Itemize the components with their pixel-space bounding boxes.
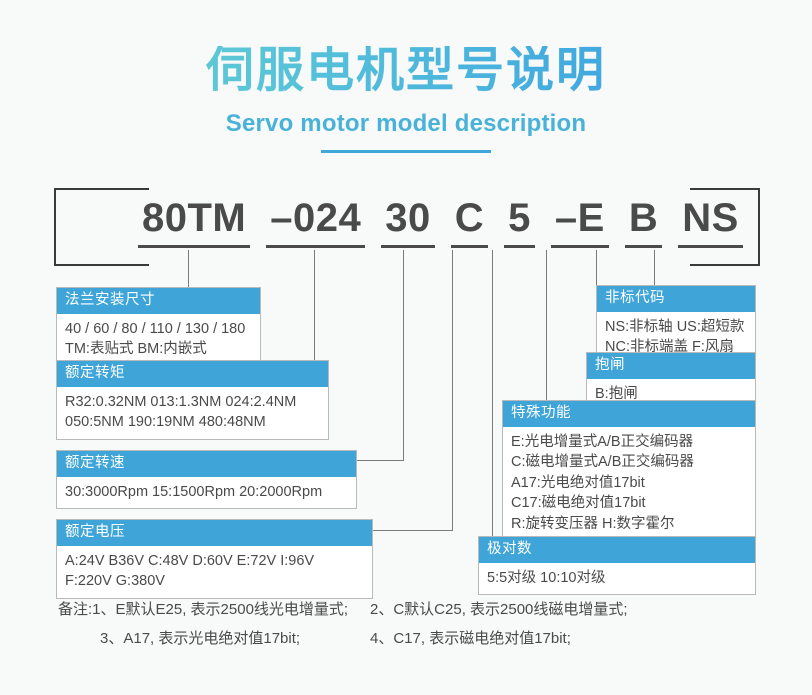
frame-right-edge bbox=[758, 188, 760, 266]
footer-notes: 备注:1、E默认E25, 表示2500线光电增量式; 2、C默认C25, 表示2… bbox=[0, 596, 812, 653]
footer-note-1: 备注:1、E默认E25, 表示2500线光电增量式; bbox=[0, 596, 370, 625]
connector-torque bbox=[314, 250, 315, 362]
model-description-diagram: 伺服电机型号说明 Servo motor model description 8… bbox=[0, 0, 812, 695]
info-box-voltage-title: 额定电压 bbox=[57, 520, 372, 546]
code-segment-encoder: C bbox=[449, 198, 490, 248]
connector-nonstandard bbox=[654, 250, 655, 285]
info-box-voltage: 额定电压 A:24V B36V C:48V D:60V E:72V I:96V … bbox=[56, 519, 373, 599]
code-segment-torque: –024 bbox=[264, 198, 367, 248]
info-box-voltage-body: A:24V B36V C:48V D:60V E:72V I:96V F:220… bbox=[57, 546, 372, 598]
connector-special-function bbox=[546, 250, 547, 400]
page-title-cn: 伺服电机型号说明 bbox=[0, 46, 812, 96]
info-box-torque-title: 额定转矩 bbox=[57, 361, 328, 387]
info-box-flange-body: 40 / 60 / 80 / 110 / 130 / 180 TM:表贴式 BM… bbox=[57, 314, 260, 366]
connector-voltage-vertical bbox=[452, 250, 453, 530]
code-segment-pole-pairs: 5 bbox=[502, 198, 537, 248]
info-box-torque: 额定转矩 R32:0.32NM 013:1.3NM 024:2.4NM 050:… bbox=[56, 360, 329, 440]
info-box-pole-pairs-title: 极对数 bbox=[479, 537, 755, 563]
info-box-pole-pairs-body: 5:5对级 10:10对级 bbox=[479, 563, 755, 595]
footer-note-2: 2、C默认C25, 表示2500线磁电增量式; bbox=[370, 596, 750, 625]
info-box-speed: 额定转速 30:3000Rpm 15:1500Rpm 20:2000Rpm bbox=[56, 450, 357, 509]
info-box-speed-body: 30:3000Rpm 15:1500Rpm 20:2000Rpm bbox=[57, 477, 356, 509]
footer-note-line-1: 备注:1、E默认E25, 表示2500线光电增量式; 2、C默认C25, 表示2… bbox=[0, 596, 812, 625]
code-segment-special-func: –E bbox=[549, 198, 611, 248]
info-box-flange: 法兰安装尺寸 40 / 60 / 80 / 110 / 130 / 180 TM… bbox=[56, 287, 261, 367]
connector-flange bbox=[188, 250, 189, 292]
code-segment-nonstd: NS bbox=[676, 198, 745, 248]
info-box-torque-body: R32:0.32NM 013:1.3NM 024:2.4NM 050:5NM 1… bbox=[57, 387, 328, 439]
connector-pole-pairs-vertical bbox=[492, 250, 493, 542]
connector-speed-horizontal bbox=[356, 460, 404, 461]
frame-top-right-edge bbox=[690, 188, 760, 190]
info-box-pole-pairs: 极对数 5:5对级 10:10对级 bbox=[478, 536, 756, 595]
frame-left-edge bbox=[54, 188, 56, 266]
footer-note-3: 3、A17, 表示光电绝对值17bit; bbox=[0, 625, 370, 654]
code-segment-brake: B bbox=[623, 198, 664, 248]
page-title-en: Servo motor model description bbox=[0, 110, 812, 138]
connector-voltage-horizontal bbox=[372, 530, 453, 531]
connector-speed-vertical bbox=[403, 250, 404, 460]
frame-top-left-edge bbox=[54, 188, 149, 190]
frame-bottom-right-edge bbox=[690, 264, 760, 266]
code-segment-frame-size: 80TM bbox=[136, 198, 252, 248]
code-segment-speed: 30 bbox=[379, 198, 437, 248]
info-box-speed-title: 额定转速 bbox=[57, 451, 356, 477]
frame-bottom-left-edge bbox=[54, 264, 149, 266]
footer-note-line-2: 3、A17, 表示光电绝对值17bit; 4、C17, 表示磁电绝对值17bit… bbox=[0, 625, 812, 654]
title-divider bbox=[321, 150, 491, 153]
info-box-nonstandard-title: 非标代码 bbox=[597, 286, 755, 312]
footer-note-4: 4、C17, 表示磁电绝对值17bit; bbox=[370, 625, 750, 654]
info-box-special-function-title: 特殊功能 bbox=[503, 401, 755, 427]
model-code-row: 80TM –024 30 C 5 –E B NS bbox=[136, 198, 745, 248]
info-box-brake-title: 抱闸 bbox=[587, 353, 755, 379]
info-box-flange-title: 法兰安装尺寸 bbox=[57, 288, 260, 314]
